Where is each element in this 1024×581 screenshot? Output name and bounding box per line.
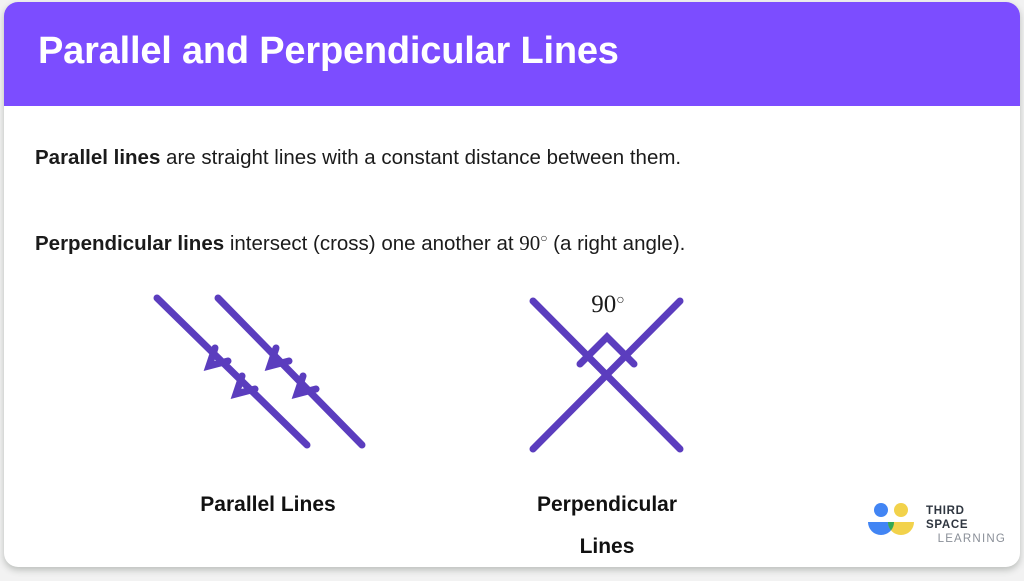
figures-area: 90○ (4, 272, 1020, 472)
definition-perpendicular-term: Perpendicular lines (35, 232, 224, 255)
definition-parallel-term: Parallel lines (35, 146, 160, 169)
figures-svg: 90○ (4, 272, 1020, 472)
logo-mark-icon (866, 500, 918, 540)
angle-label-90: 90○ (591, 291, 624, 318)
logo-head-yellow (894, 503, 908, 517)
logo-wordmark: THIRD SPACE LEARNING (926, 504, 1006, 546)
angle-value-inline: 90○ (519, 231, 547, 255)
parallel-line-1 (157, 298, 307, 445)
caption-perpendicular-lines: Perpendicular Lines (494, 484, 720, 567)
angle-number-inline: 90 (519, 231, 540, 255)
definition-parallel-text: are straight lines with a constant dista… (160, 146, 681, 169)
slide-page: Parallel and Perpendicular Lines Paralle… (0, 0, 1024, 581)
angle-label-degree: ○ (616, 293, 624, 308)
definition-perpendicular: Perpendicular lines intersect (cross) on… (35, 224, 685, 258)
slide-card: Parallel and Perpendicular Lines Paralle… (4, 2, 1020, 567)
angle-label-number: 90 (591, 291, 616, 318)
caption-perpendicular-line2: Lines (494, 526, 720, 567)
logo-head-blue (874, 503, 888, 517)
definition-parallel: Parallel lines are straight lines with a… (35, 144, 681, 172)
definition-perpendicular-text-after: (a right angle). (547, 232, 685, 255)
caption-parallel-lines: Parallel Lines (128, 484, 408, 526)
definition-perpendicular-text-before: intersect (cross) one another at (224, 232, 519, 255)
parallel-line-2 (218, 298, 362, 445)
logo-text-learning: LEARNING (926, 532, 1006, 546)
perpendicular-lines-diagram (533, 301, 680, 449)
caption-perpendicular-line1: Perpendicular (494, 484, 720, 526)
page-title: Parallel and Perpendicular Lines (38, 30, 619, 73)
header-banner: Parallel and Perpendicular Lines (4, 2, 1020, 106)
logo-text-third-space: THIRD SPACE (926, 504, 1006, 532)
third-space-learning-logo: THIRD SPACE LEARNING (866, 498, 1002, 542)
parallel-lines-diagram (157, 298, 362, 445)
right-angle-marker-icon (580, 337, 634, 364)
